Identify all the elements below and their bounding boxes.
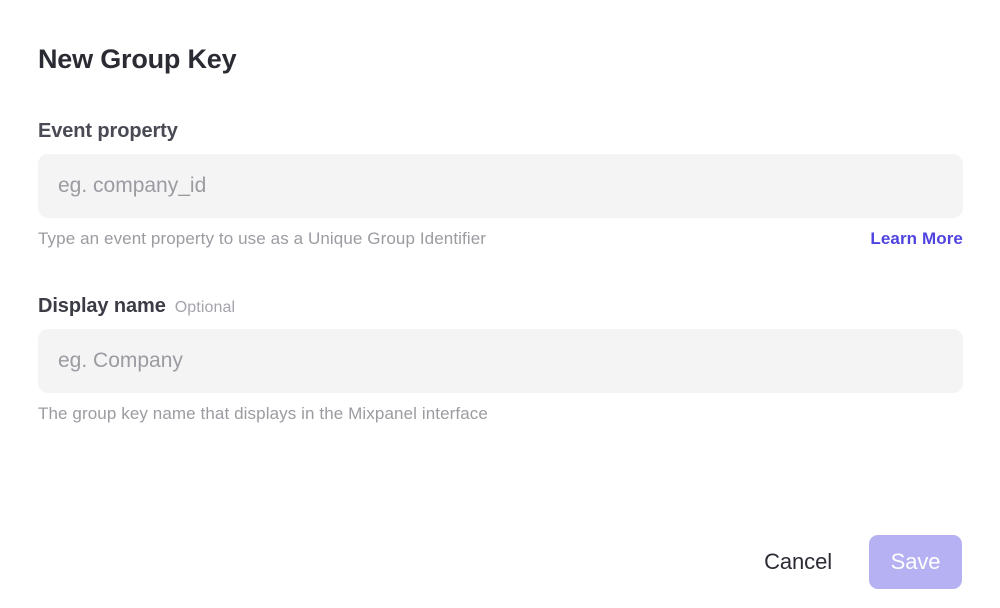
display-name-input[interactable]: [38, 329, 963, 393]
field-event-property: Event property Type an event property to…: [38, 120, 962, 249]
event-property-helper-row: Type an event property to use as a Uniqu…: [38, 229, 963, 249]
dialog-footer: Cancel Save: [38, 517, 962, 608]
cancel-button[interactable]: Cancel: [764, 549, 832, 575]
display-name-helper-text: The group key name that displays in the …: [38, 404, 488, 424]
display-name-label-row: Display name Optional: [38, 295, 962, 318]
field-spacer: [38, 257, 962, 295]
field-display-name: Display name Optional The group key name…: [38, 295, 962, 424]
display-name-helper-row: The group key name that displays in the …: [38, 404, 963, 424]
event-property-label: Event property: [38, 120, 178, 143]
form-body: Event property Type an event property to…: [38, 76, 962, 424]
display-name-label: Display name: [38, 295, 166, 318]
event-property-input[interactable]: [38, 154, 963, 218]
display-name-optional-tag: Optional: [175, 299, 235, 317]
event-property-helper-text: Type an event property to use as a Uniqu…: [38, 229, 486, 249]
save-button[interactable]: Save: [869, 535, 962, 589]
page-title: New Group Key: [38, 0, 962, 76]
new-group-key-dialog: New Group Key Event property Type an eve…: [0, 0, 1000, 608]
learn-more-link[interactable]: Learn More: [870, 229, 963, 249]
event-property-label-row: Event property: [38, 120, 962, 143]
